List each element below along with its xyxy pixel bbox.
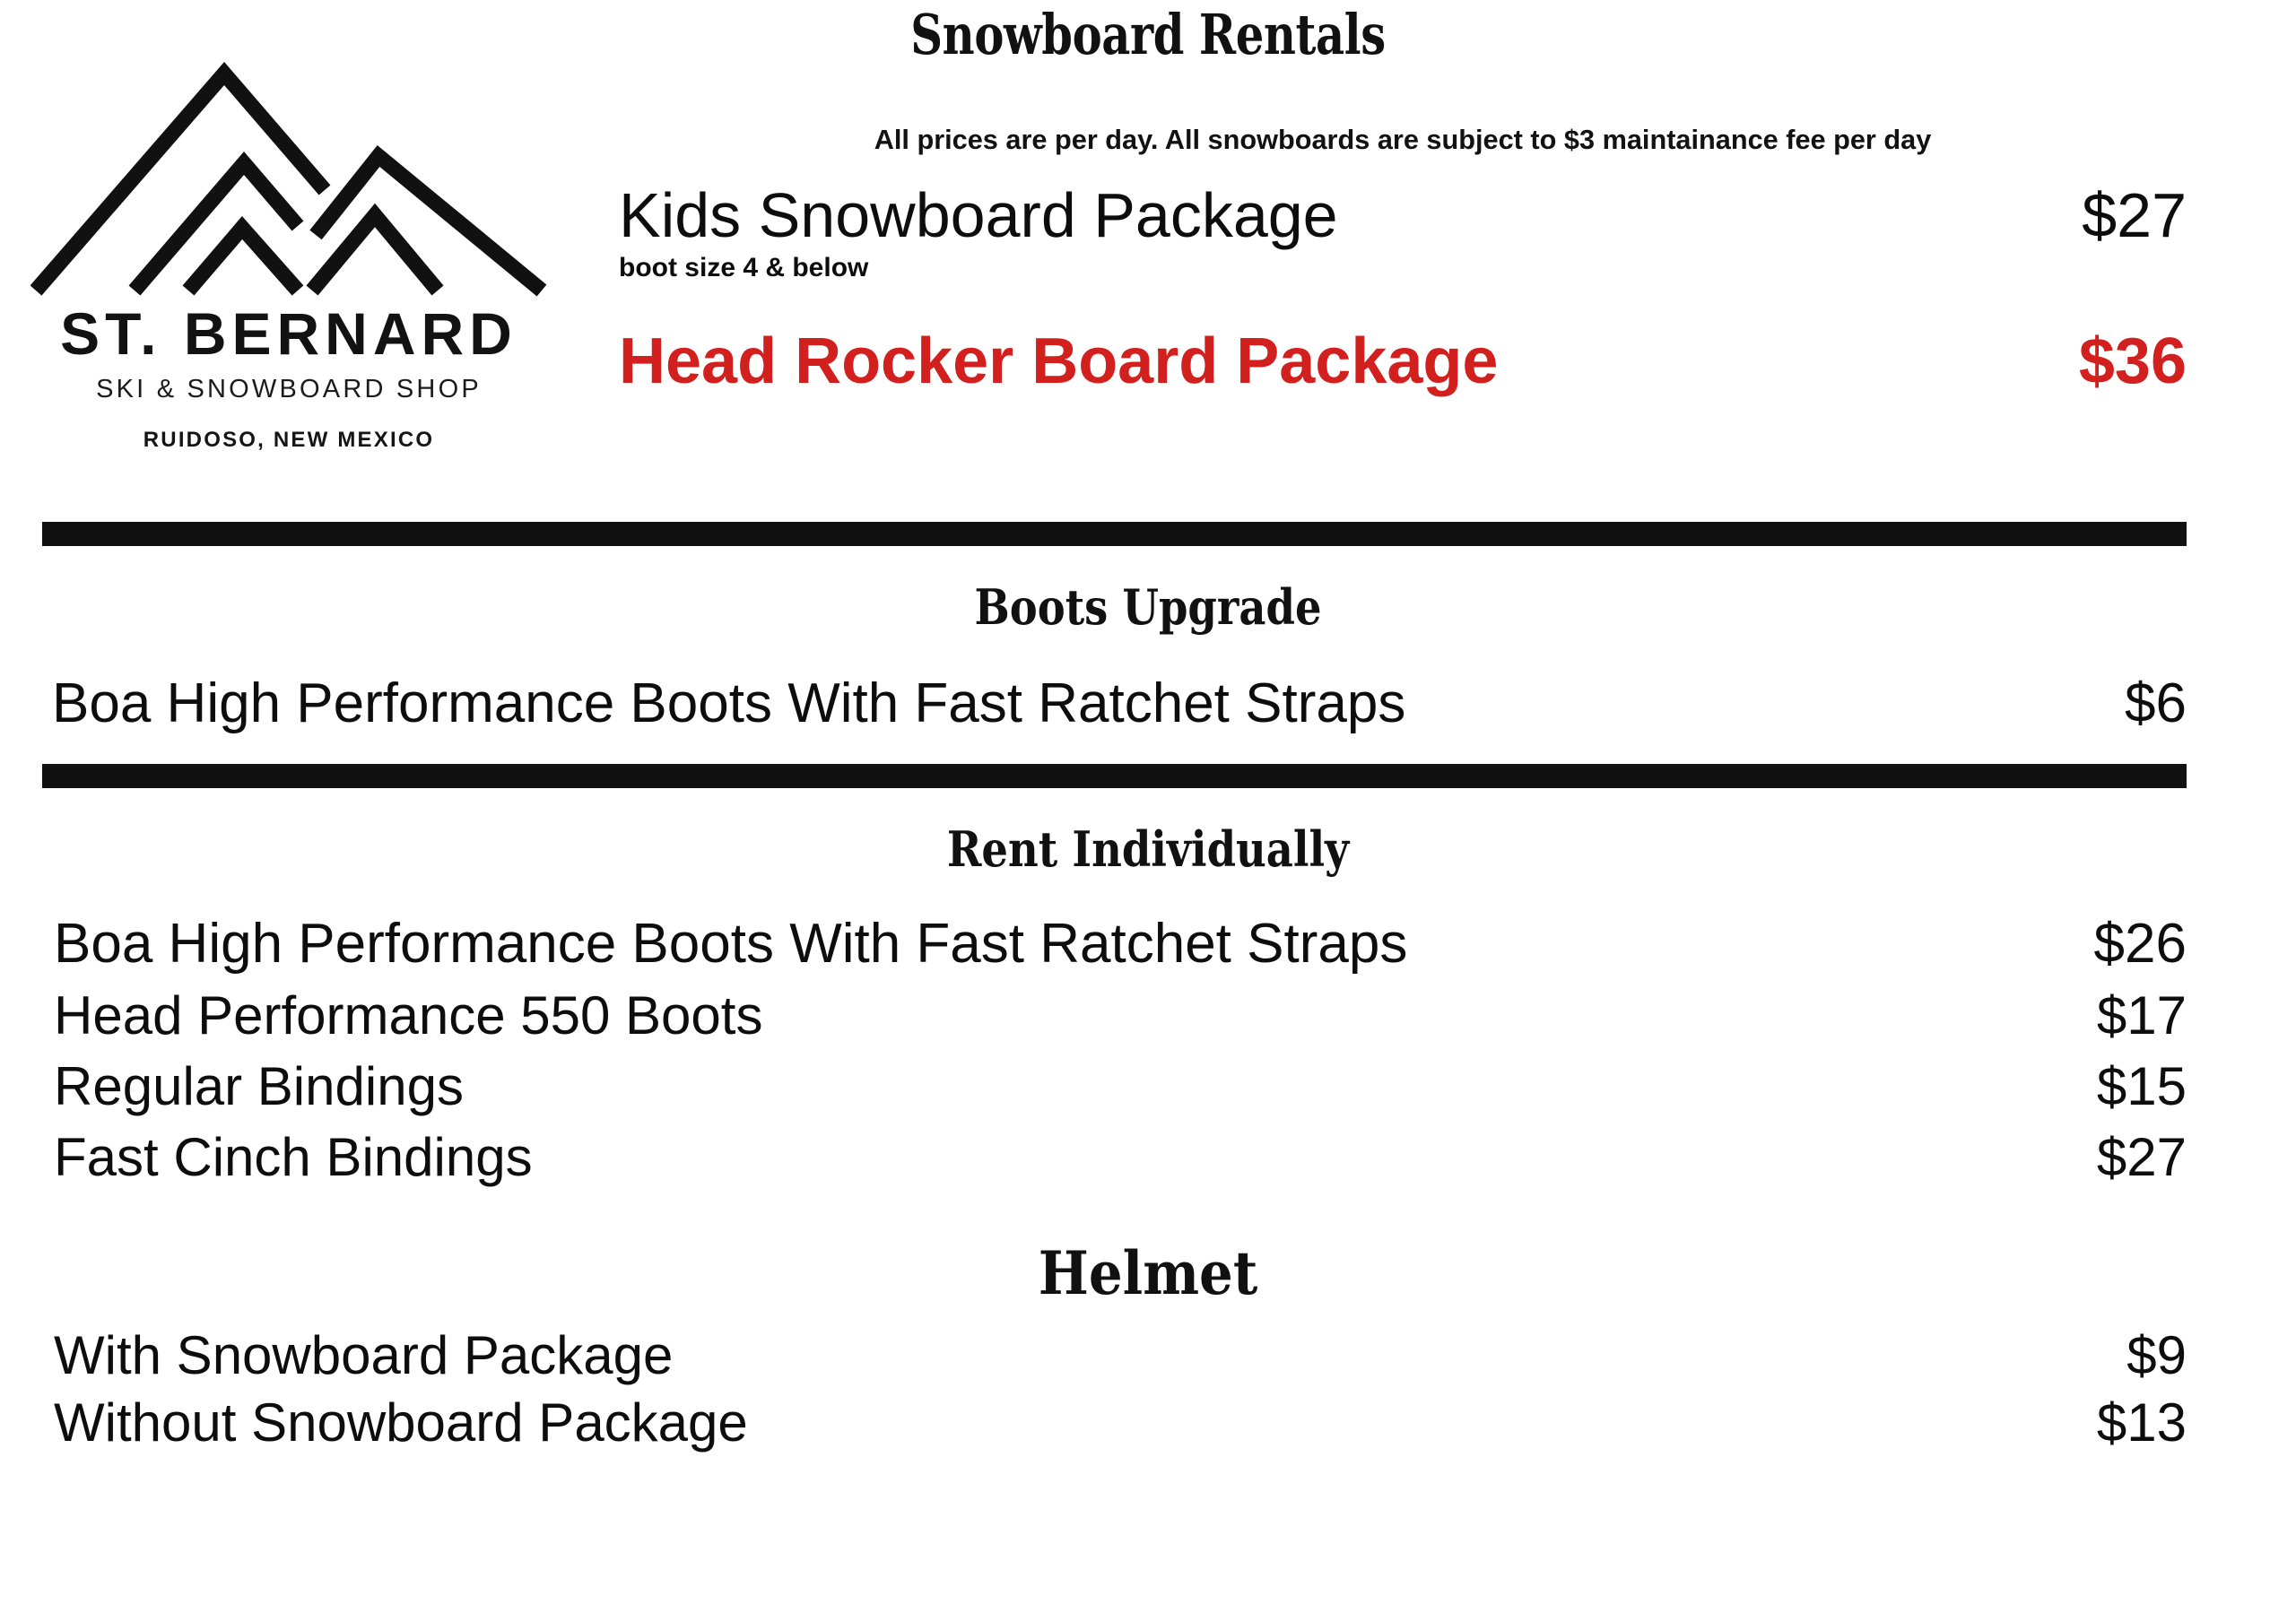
list-item: With Snowboard Package $9: [54, 1324, 2187, 1386]
helmet-section: Helmet With Snowboard Package $9 Without…: [0, 1197, 2296, 1453]
spacer: [0, 735, 2296, 764]
list-item: Without Snowboard Package $13: [54, 1392, 2187, 1453]
item-label: With Snowboard Package: [54, 1324, 673, 1386]
header-block: Snowboard Rentals ST. BERNARD SKI & SNOW…: [0, 0, 2296, 522]
item-price: $13: [2061, 1392, 2187, 1453]
section-divider: [42, 522, 2187, 546]
mountain-peaks-icon: [29, 56, 549, 298]
logo-shop-name: ST. BERNARD: [20, 299, 558, 368]
item-price: $15: [2061, 1055, 2187, 1117]
rent-individually-list: Boa High Performance Boots With Fast Rat…: [54, 912, 2187, 1188]
item-label: Boa High Performance Boots With Fast Rat…: [54, 912, 1407, 976]
pricing-disclaimer: All prices are per day. All snowboards a…: [627, 124, 2179, 156]
package-price: $27: [2046, 179, 2187, 251]
list-item: Head Performance 550 Boots $17: [54, 984, 2187, 1046]
item-price: $17: [2061, 984, 2187, 1046]
item-price: $27: [2061, 1126, 2187, 1188]
boots-upgrade-list: Boa High Performance Boots With Fast Rat…: [52, 672, 2187, 735]
package-name: Kids Snowboard Package: [619, 184, 1338, 247]
section-heading: Rent Individually: [161, 820, 2135, 878]
logo-location: RUIDOSO, NEW MEXICO: [20, 428, 558, 453]
list-item: Boa High Performance Boots With Fast Rat…: [52, 672, 2187, 735]
logo-tagline: SKI & SNOWBOARD SHOP: [20, 375, 558, 404]
boots-upgrade-section: Boots Upgrade Boa High Performance Boots…: [0, 546, 2296, 764]
package-price: $36: [2043, 325, 2187, 398]
item-label: Boa High Performance Boots With Fast Rat…: [52, 672, 1405, 735]
package-list: All prices are per day. All snowboards a…: [619, 124, 2187, 398]
section-heading: Boots Upgrade: [161, 578, 2135, 636]
item-price: $6: [2089, 672, 2187, 735]
shop-logo: ST. BERNARD SKI & SNOWBOARD SHOP RUIDOSO…: [20, 56, 558, 468]
item-label: Without Snowboard Package: [54, 1392, 748, 1453]
item-label: Fast Cinch Bindings: [54, 1126, 533, 1188]
item-price: $26: [2058, 912, 2187, 976]
item-label: Regular Bindings: [54, 1055, 464, 1117]
item-label: Head Performance 550 Boots: [54, 984, 762, 1046]
rent-individually-section: Rent Individually Boa High Performance B…: [0, 788, 2296, 1188]
package-name: Head Rocker Board Package: [619, 329, 1498, 395]
section-divider: [42, 764, 2187, 788]
package-row: Head Rocker Board Package $36: [619, 325, 2187, 398]
helmet-list: With Snowboard Package $9 Without Snowbo…: [54, 1324, 2187, 1453]
list-item: Fast Cinch Bindings $27: [54, 1126, 2187, 1188]
list-item: Regular Bindings $15: [54, 1055, 2187, 1117]
list-item: Boa High Performance Boots With Fast Rat…: [54, 912, 2187, 976]
package-note: boot size 4 & below: [619, 253, 2187, 283]
item-price: $9: [2091, 1324, 2187, 1386]
section-heading: Helmet: [115, 1238, 2181, 1308]
package-row: Kids Snowboard Package $27: [619, 179, 2187, 251]
